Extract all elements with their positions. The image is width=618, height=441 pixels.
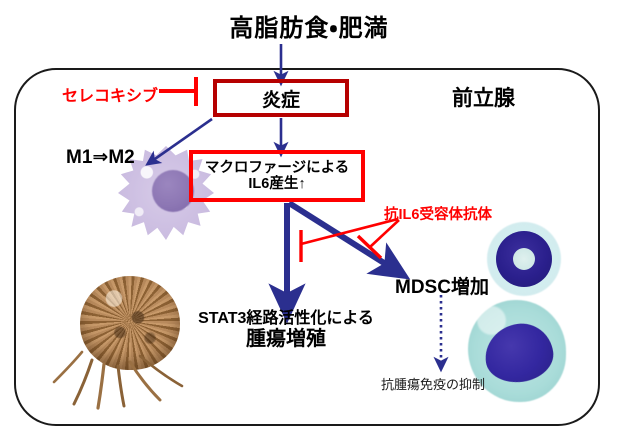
mdsc-increase-label: MDSC増加	[395, 272, 489, 299]
diagram-canvas: 高脂肪食・肥満 前立腺	[0, 0, 618, 441]
il6-production-node: マクロファージによる IL6産生↑	[189, 150, 365, 202]
macrophage-nucleus	[152, 170, 194, 212]
mdsc-ring-cell-image	[487, 222, 561, 296]
inflammation-label: 炎症	[262, 85, 300, 112]
stat3-label-line1: STAT3経路活性化による	[176, 310, 396, 328]
mdsc-ring-nucleus-hole	[513, 248, 535, 270]
anti-il6-receptor-antibody-label: 抗IL6受容体抗体	[384, 203, 492, 224]
tumor-cell-image	[66, 276, 192, 400]
antitumor-immunity-suppression-label: 抗腫瘍免疫の抑制	[381, 374, 485, 393]
il6-label-line2: IL6産生↑	[248, 176, 305, 192]
stat3-label-line2: 腫瘍増殖	[176, 328, 396, 351]
stat3-proliferation-label: STAT3経路活性化による 腫瘍増殖	[176, 310, 396, 351]
tumor-cell-body	[80, 276, 180, 370]
inflammation-node: 炎症	[213, 79, 349, 117]
prostate-label: 前立腺	[452, 82, 515, 112]
page-title: 高脂肪食・肥満	[0, 8, 618, 43]
m1-to-m2-label: M1⇒M2	[66, 146, 135, 169]
celecoxib-label: セレコキシブ	[62, 82, 158, 106]
il6-label-line1: マクロファージによる	[205, 160, 349, 176]
